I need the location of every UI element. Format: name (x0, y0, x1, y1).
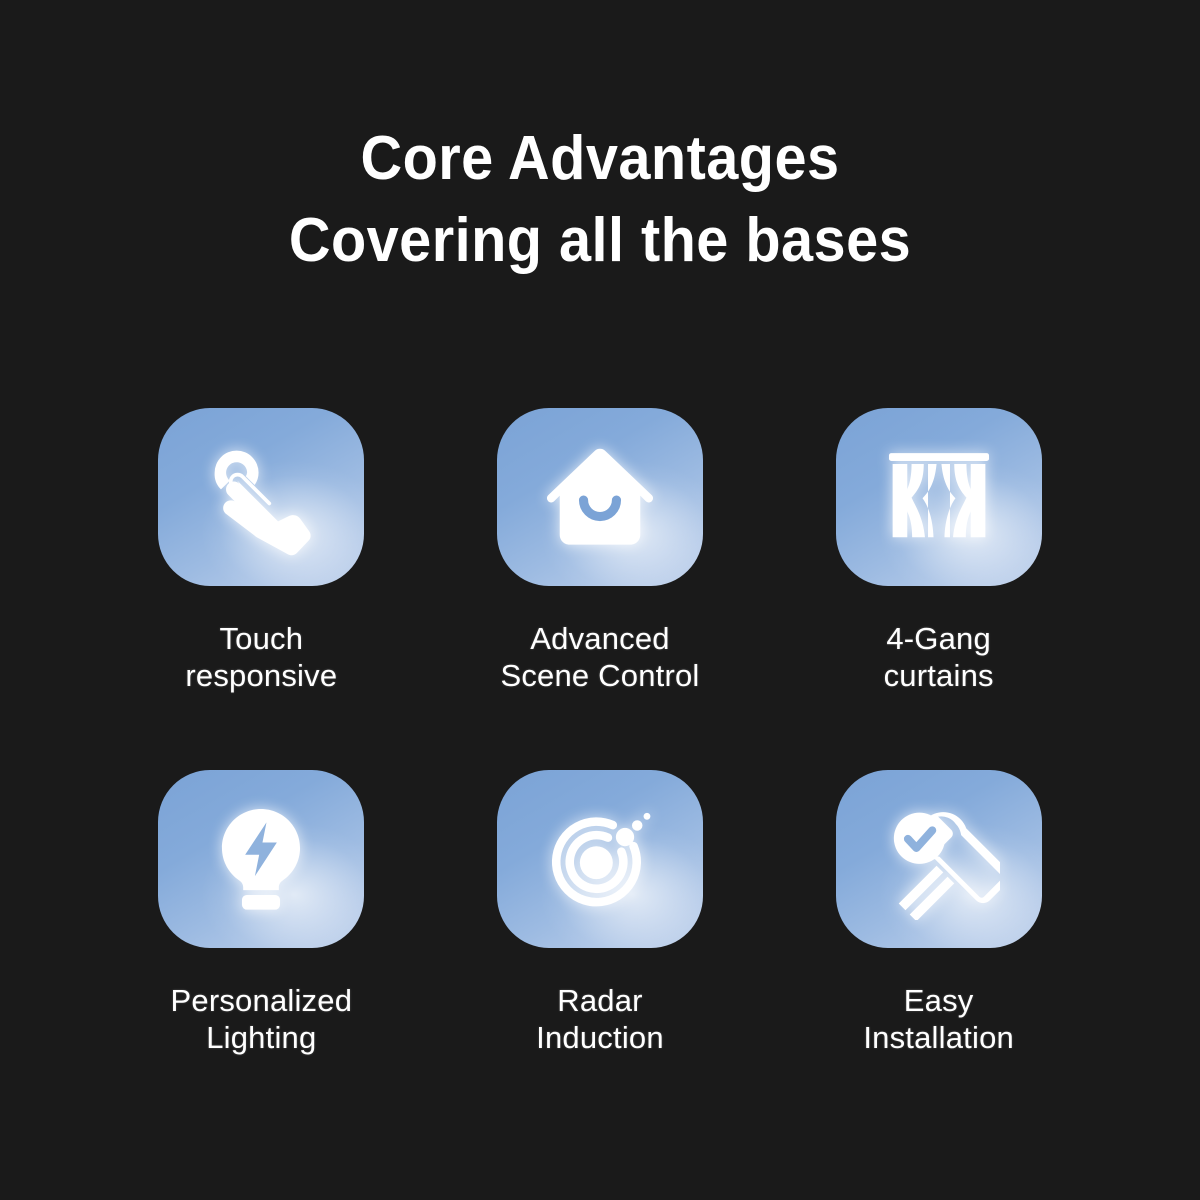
feature-icon-tile (836, 408, 1042, 586)
feature-label: Personalized Lighting (171, 982, 353, 1056)
feature-label: Advanced Scene Control (500, 620, 699, 694)
feature-card-advanced-scene-control[interactable]: Advanced Scene Control (431, 408, 770, 770)
feature-card-easy-installation[interactable]: Easy Installation (769, 770, 1108, 1132)
feature-grid: Touch responsive Advanced Scene Control (92, 408, 1108, 1132)
wrench-check-icon (878, 798, 1000, 920)
lightbulb-bolt-icon (200, 798, 322, 920)
feature-icon-tile (497, 408, 703, 586)
radar-signal-icon (539, 798, 661, 920)
touch-gesture-icon (200, 436, 322, 558)
feature-card-touch-responsive[interactable]: Touch responsive (92, 408, 431, 770)
feature-card-personalized-lighting[interactable]: Personalized Lighting (92, 770, 431, 1132)
feature-label: 4-Gang curtains (884, 620, 994, 694)
feature-icon-tile (836, 770, 1042, 948)
feature-card-4-gang-curtains[interactable]: 4-Gang curtains (769, 408, 1108, 770)
feature-card-radar-induction[interactable]: Radar Induction (431, 770, 770, 1132)
feature-icon-tile (497, 770, 703, 948)
page-title-line-2: Covering all the bases (42, 200, 1158, 282)
feature-icon-tile (158, 408, 364, 586)
feature-label: Radar Induction (536, 982, 664, 1056)
feature-label: Easy Installation (863, 982, 1014, 1056)
feature-icon-tile (158, 770, 364, 948)
page-title: Core Advantages Covering all the bases (0, 118, 1200, 282)
feature-label: Touch responsive (185, 620, 337, 694)
smart-home-icon (539, 436, 661, 558)
curtains-icon (878, 436, 1000, 558)
page-title-line-1: Core Advantages (42, 118, 1158, 200)
